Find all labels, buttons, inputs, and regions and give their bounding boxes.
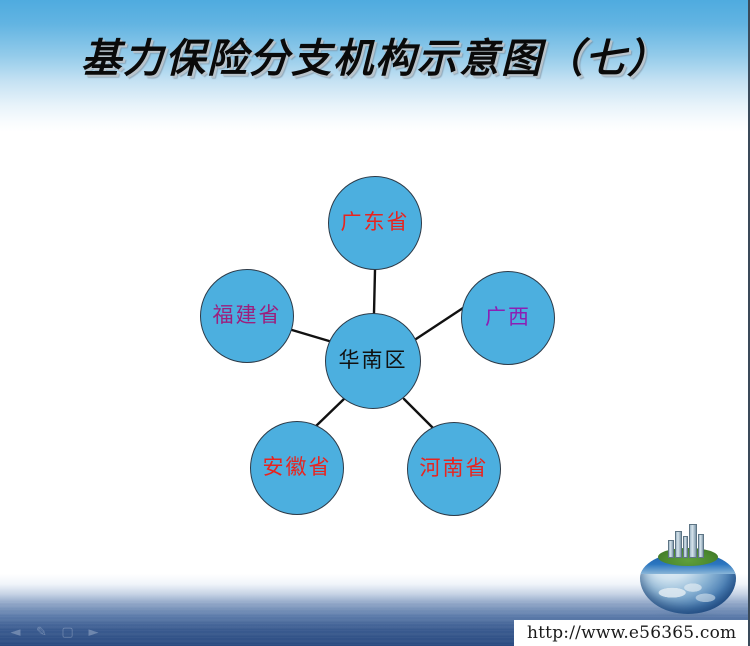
diagram-edge bbox=[416, 308, 463, 339]
diagram-node-label: 福建省 bbox=[213, 305, 282, 326]
diagram-node-label: 安徽省 bbox=[263, 457, 332, 478]
diagram-edge bbox=[374, 270, 375, 313]
globe-city-logo bbox=[636, 518, 740, 618]
watermark-url: http://www.e56365.com bbox=[514, 623, 736, 643]
diagram-node-branch-1[interactable]: 广西 bbox=[461, 271, 555, 365]
globe-continents-icon bbox=[650, 574, 724, 608]
diagram-node-label: 河南省 bbox=[420, 458, 489, 479]
diagram-edge bbox=[404, 399, 433, 428]
watermark-url-strip: http://www.e56365.com bbox=[514, 620, 750, 646]
diagram-node-label: 广西 bbox=[485, 307, 531, 328]
diagram-node-branch-3[interactable]: 安徽省 bbox=[250, 421, 344, 515]
diagram-edge bbox=[315, 398, 345, 427]
diagram-node-label: 广东省 bbox=[341, 212, 410, 233]
diagram-node-label: 华南区 bbox=[339, 350, 408, 371]
diagram-edge bbox=[292, 330, 329, 341]
diagram-node-branch-4[interactable]: 河南省 bbox=[407, 422, 501, 516]
diagram-node-branch-0[interactable]: 广东省 bbox=[328, 176, 422, 270]
diagram-node-branch-2[interactable]: 福建省 bbox=[200, 269, 294, 363]
diagram-node-center[interactable]: 华南区 bbox=[325, 313, 421, 409]
city-skyline-icon bbox=[666, 520, 708, 558]
presentation-slide: ◄ ✎ ▢ ► 基力保险分支机构示意图（七） 华南区广东省广西福建省安徽省河南省 bbox=[0, 0, 750, 646]
